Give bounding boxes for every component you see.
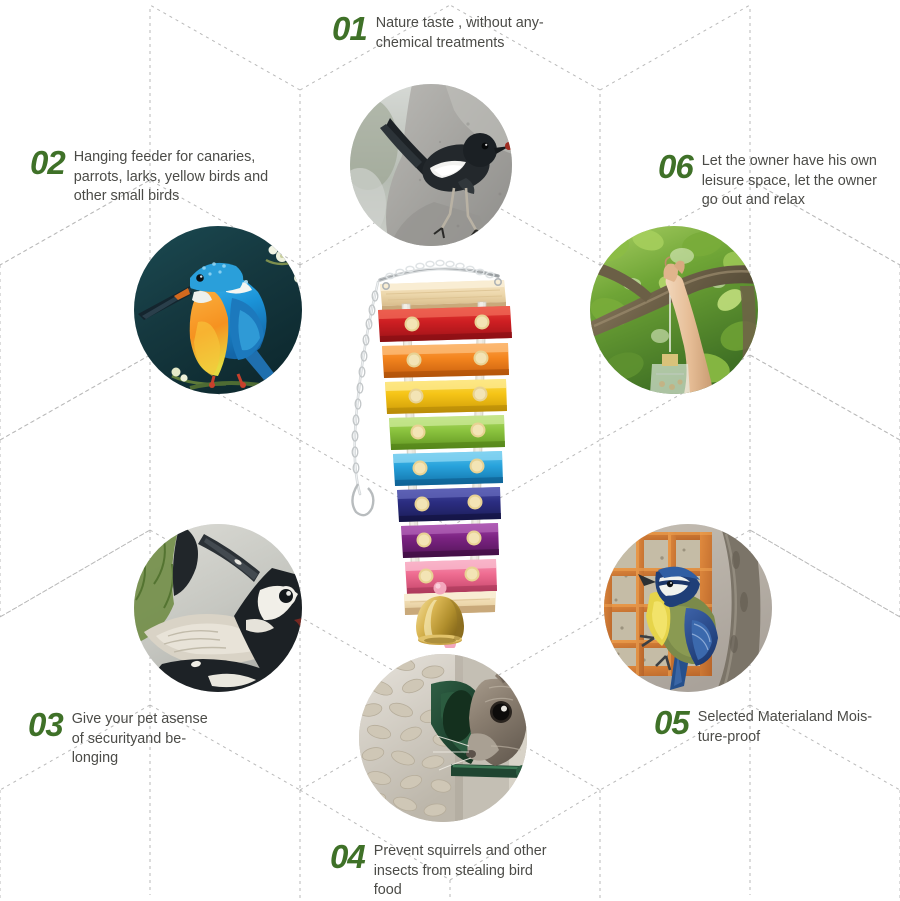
photo-magpie-robin <box>350 84 512 246</box>
feature-05: 05 Selected Materialand Mois- ture-proof <box>654 708 898 747</box>
xylophone-bar-orange <box>382 343 509 378</box>
photo-woodpecker <box>134 524 302 692</box>
photo-kingfisher <box>134 226 302 394</box>
feature-01: 01 Nature taste , without any- chemical … <box>332 14 572 53</box>
xylophone-bar-red <box>378 306 512 342</box>
feature-03-number: 03 <box>28 710 63 740</box>
feature-01-number: 01 <box>332 14 367 44</box>
feature-05-number: 05 <box>654 708 689 738</box>
feature-02-number: 02 <box>30 148 65 178</box>
xylophone-bar-blue <box>393 451 503 486</box>
feature-05-text: Selected Materialand Mois- ture-proof <box>698 708 872 747</box>
feature-06-text: Let the owner have his own leisure space… <box>702 152 877 211</box>
feature-03: 03 Give your pet asense of securityand b… <box>28 710 258 769</box>
xylophone-bar-purple <box>401 523 499 558</box>
feature-01-text: Nature taste , without any- chemical tre… <box>376 14 544 53</box>
feature-03-text: Give your pet asense of securityand be- … <box>72 710 208 769</box>
xylophone-bar-green <box>389 415 505 450</box>
feature-06: 06 Let the owner have his own leisure sp… <box>658 152 900 211</box>
feature-04-number: 04 <box>330 842 365 872</box>
feature-02-text: Hanging feeder for canaries, parrots, la… <box>74 148 268 207</box>
xylophone-bar-navy <box>397 487 501 522</box>
feature-02: 02 Hanging feeder for canaries, parrots,… <box>30 148 300 207</box>
feature-06-number: 06 <box>658 152 693 182</box>
feature-04-text: Prevent squirrels and other insects from… <box>374 842 547 901</box>
photo-squirrel-feeder <box>359 654 527 822</box>
product-bell-body <box>408 582 472 654</box>
infographic-stage: 01 Nature taste , without any- chemical … <box>0 0 900 900</box>
photo-blue-tit <box>604 524 772 692</box>
xylophone-bar-yellow <box>385 379 507 414</box>
feature-04: 04 Prevent squirrels and other insects f… <box>330 842 580 901</box>
photo-hanging-feeder <box>590 226 758 394</box>
